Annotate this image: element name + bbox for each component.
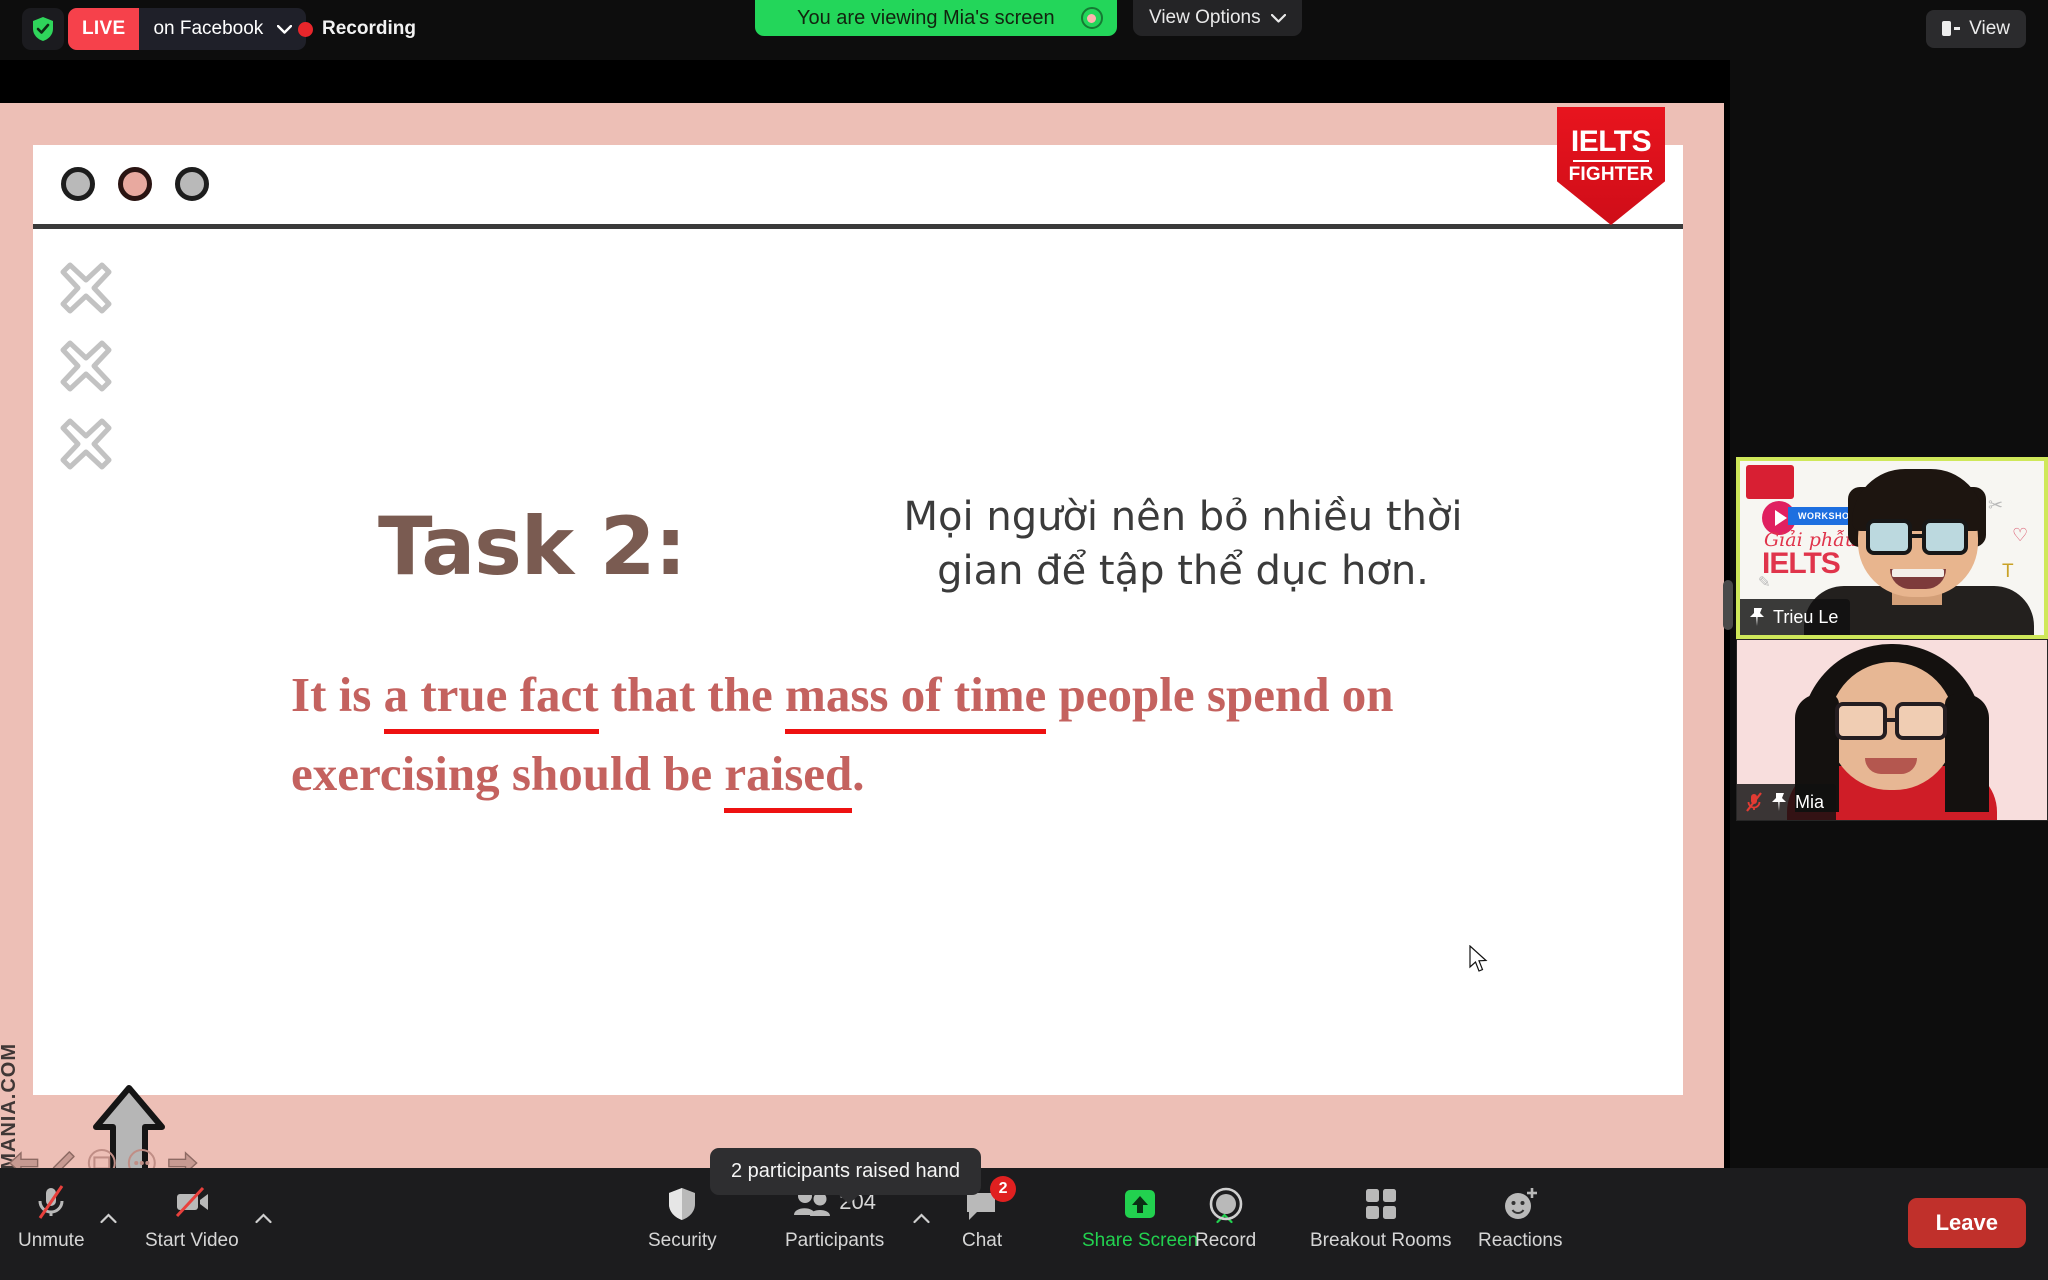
view-layout-button[interactable]: View (1926, 10, 2026, 48)
doodle-decor: ✎ (1758, 573, 1771, 591)
thumbnail-name-bar: Mia (1737, 784, 1836, 820)
meeting-toolbar: Unmute Start Video Security (0, 1168, 2048, 1280)
encryption-shield-badge[interactable] (22, 8, 64, 50)
x-mark-icon (58, 338, 114, 394)
slide-english-answer: It is a true fact that the mass of time … (291, 655, 1571, 814)
toolbar-record-button[interactable]: Record (1195, 1182, 1256, 1252)
toolbar-reactions-label: Reactions (1478, 1230, 1563, 1252)
x-mark-icon (58, 416, 114, 472)
glasses-left (1866, 519, 1912, 555)
shared-screen-stage: SLIDESMANIA.COM IELTS FIGHTER (0, 60, 1730, 1168)
record-dot-icon[interactable] (1081, 7, 1103, 29)
participant-name: Mia (1795, 792, 1824, 813)
mic-muted-icon (31, 1182, 71, 1222)
view-options-button[interactable]: View Options (1133, 0, 1302, 36)
toolbar-start-video-button[interactable]: Start Video (145, 1182, 239, 1252)
toolbar-participants-label: Participants (785, 1230, 884, 1252)
shield-check-icon (31, 16, 55, 42)
slide-canvas: IELTS FIGHTER Task 2: Mọi người nên bỏ n… (33, 145, 1683, 1095)
layout-view-icon (1942, 20, 1960, 38)
toolbar-share-screen-button[interactable]: Share Screen (1082, 1182, 1198, 1252)
toolbar-reactions-button[interactable]: Reactions (1478, 1182, 1563, 1252)
toolbar-start-video-label: Start Video (145, 1230, 239, 1252)
brand-card-decor (1746, 465, 1794, 499)
doodle-decor: ✂ (1988, 495, 2003, 516)
toolbar-security-label: Security (648, 1230, 717, 1252)
logo-line-2: FIGHTER (1569, 165, 1654, 184)
logo-line-1: IELTS (1571, 127, 1651, 157)
window-dots (61, 167, 209, 201)
share-up-arrow-icon (1122, 1182, 1158, 1222)
mic-muted-icon (1745, 792, 1763, 812)
toolbar-breakout-rooms-label: Breakout Rooms (1310, 1230, 1452, 1252)
split-drag-handle[interactable] (1723, 580, 1733, 630)
x-mark-icon (58, 260, 114, 316)
smiley-plus-icon (1501, 1182, 1539, 1222)
background-title-text: IELTS (1762, 547, 1840, 581)
live-status-pill[interactable]: LIVE on Facebook (68, 8, 306, 50)
participant-thumbnail-strip: WORKSHOP Giải phẫu IELTS ✂ ♡ T ✎ Trieu L (1736, 0, 2048, 1168)
chevron-down-icon (1271, 7, 1286, 29)
answer-text: . (852, 746, 864, 801)
toolbar-record-label: Record (1195, 1230, 1256, 1252)
logo-divider (1573, 160, 1649, 162)
live-platform-label: on Facebook (139, 8, 273, 50)
toolbar-share-screen-label: Share Screen (1082, 1230, 1198, 1252)
chevron-up-icon[interactable] (913, 1208, 930, 1230)
underlined-phrase: mass of time (785, 667, 1046, 734)
window-dot-3 (175, 167, 209, 201)
zoom-meeting-window: LIVE on Facebook Recording You are viewi… (0, 0, 2048, 1280)
participant-thumbnail-mia[interactable]: Mia (1736, 639, 2048, 821)
toolbar-chat-label: Chat (962, 1230, 1002, 1252)
toolbar-unmute-label: Unmute (18, 1230, 85, 1252)
video-muted-icon (171, 1182, 213, 1222)
toolbar-security-button[interactable]: Security (648, 1182, 717, 1252)
letter-doodle: T (2002, 561, 2014, 583)
live-badge-label: LIVE (68, 8, 139, 50)
answer-text: that the (599, 667, 785, 722)
recording-label: Recording (322, 18, 416, 40)
glasses-right (1922, 519, 1968, 555)
underlined-phrase: raised (724, 746, 852, 813)
slide-window-chrome: IELTS FIGHTER (33, 145, 1683, 229)
pin-icon (1770, 792, 1788, 812)
record-circle-icon (1208, 1182, 1244, 1222)
glasses-left (1835, 702, 1887, 740)
chevron-up-icon[interactable] (255, 1208, 272, 1230)
chevron-up-icon[interactable] (100, 1208, 117, 1230)
leave-button-label: Leave (1936, 1210, 1998, 1235)
slide-frame: SLIDESMANIA.COM IELTS FIGHTER (0, 103, 1724, 1183)
toolbar-unmute-button[interactable]: Unmute (18, 1182, 85, 1252)
recording-dot-icon (298, 22, 313, 37)
glasses-right (1895, 702, 1947, 740)
pin-icon (1748, 607, 1766, 627)
window-dot-2 (118, 167, 152, 201)
grid-squares-icon (1363, 1182, 1399, 1222)
raised-hand-tooltip-label: 2 participants raised hand (731, 1160, 960, 1182)
underlined-phrase: a true fact (384, 667, 599, 734)
ielts-fighter-logo: IELTS FIGHTER (1557, 107, 1665, 225)
shield-icon (666, 1182, 698, 1222)
leave-meeting-button[interactable]: Leave (1908, 1198, 2026, 1248)
toolbar-breakout-rooms-button[interactable]: Breakout Rooms (1310, 1182, 1452, 1252)
raised-hand-tooltip: 2 participants raised hand (710, 1148, 981, 1195)
answer-text: It is (291, 667, 384, 722)
view-options-label: View Options (1149, 7, 1261, 29)
participant-thumbnail-trieu-le[interactable]: WORKSHOP Giải phẫu IELTS ✂ ♡ T ✎ Trieu L (1736, 457, 2048, 639)
decorative-x-marks (58, 260, 114, 472)
viewing-screen-label: You are viewing Mia's screen (797, 7, 1055, 30)
recording-indicator: Recording (298, 8, 416, 50)
top-bar: LIVE on Facebook Recording You are viewi… (0, 0, 2048, 60)
mouse-cursor (1468, 945, 1488, 978)
participant-name: Trieu Le (1773, 607, 1838, 628)
window-dot-1 (61, 167, 95, 201)
thumbnail-name-bar: Trieu Le (1740, 599, 1850, 635)
slide-task-title: Task 2: (378, 500, 686, 593)
view-button-label: View (1969, 18, 2010, 40)
slide-vietnamese-prompt: Mọi người nên bỏ nhiều thời gian để tập … (863, 490, 1503, 598)
viewing-screen-banner: You are viewing Mia's screen (755, 0, 1117, 36)
heart-doodle-icon: ♡ (2012, 525, 2028, 546)
chat-unread-badge: 2 (990, 1176, 1016, 1202)
